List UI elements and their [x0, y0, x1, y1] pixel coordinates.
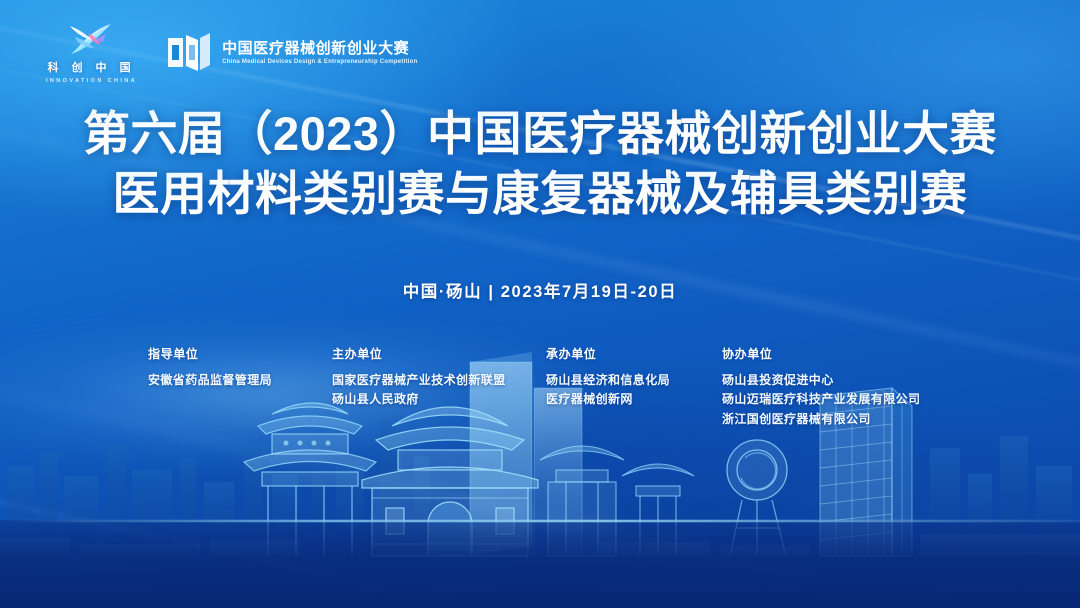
cmdc-title-cn: 中国医疗器械创新创业大赛 — [222, 41, 417, 57]
pavilion — [540, 446, 694, 556]
distant-buildings — [8, 420, 1072, 556]
innovation-china-en: INNOVATION CHINA — [46, 78, 137, 84]
title-line-2: 医用材料类别赛与康复器械及辅具类别赛 — [0, 164, 1080, 224]
sponsor-item: 国家医疗器械产业技术创新联盟 — [332, 371, 546, 390]
sponsor-column-guidance: 指导单位 安徽省药品监督管理局 — [148, 345, 332, 429]
light-streaks-decoration — [0, 0, 1080, 608]
sponsor-item: 砀山县投资促进中心 — [722, 371, 920, 390]
innovation-china-cn: 科 创 中 国 — [47, 59, 135, 75]
sponsor-heading: 主办单位 — [332, 345, 546, 362]
foreground-city-band — [0, 534, 1080, 556]
sponsor-item: 砀山迈瑞医疗科技产业发展有限公司 — [722, 390, 920, 409]
cmdc-title-en: China Medical Devices Design & Entrepren… — [222, 59, 417, 65]
sponsor-heading: 承办单位 — [546, 345, 722, 362]
sponsor-item: 砀山县人民政府 — [332, 390, 546, 409]
sponsor-item: 浙江国创医疗器械有限公司 — [722, 410, 920, 429]
horizon-glow-line — [0, 520, 1080, 522]
main-title-block: 第六届（2023）中国医疗器械创新创业大赛 医用材料类别赛与康复器械及辅具类别赛 — [0, 104, 1080, 223]
event-location-date: 中国·砀山 | 2023年7月19日-20日 — [0, 278, 1080, 302]
sponsor-heading: 协办单位 — [722, 345, 920, 362]
ground-plane — [0, 520, 1080, 608]
sponsor-column-host: 主办单位 国家医疗器械产业技术创新联盟 砀山县人民政府 — [332, 345, 546, 429]
phoenix-bird-icon — [63, 22, 121, 56]
open-book-door-icon — [167, 32, 211, 74]
sponsor-heading: 指导单位 — [148, 345, 332, 362]
title-line-1: 第六届（2023）中国医疗器械创新创业大赛 — [0, 104, 1080, 164]
round-sculpture — [727, 440, 787, 556]
sponsor-columns: 指导单位 安徽省药品监督管理局 主办单位 国家医疗器械产业技术创新联盟 砀山县人… — [148, 345, 990, 429]
logo-bar: 科 创 中 国 INNOVATION CHINA 中国医疗器械创新创业大赛 Ch… — [46, 22, 418, 84]
sponsor-item: 安徽省药品监督管理局 — [148, 371, 332, 390]
sponsor-column-organizer: 承办单位 砀山县经济和信息化局 医疗器械创新网 — [546, 345, 722, 429]
sponsor-column-coorganizer: 协办单位 砀山县投资促进中心 砀山迈瑞医疗科技产业发展有限公司 浙江国创医疗器械… — [722, 345, 920, 429]
sponsor-item: 医疗器械创新网 — [546, 390, 722, 409]
sponsor-item: 砀山县经济和信息化局 — [546, 371, 722, 390]
poster-canvas: 科 创 中 国 INNOVATION CHINA 中国医疗器械创新创业大赛 Ch… — [0, 0, 1080, 608]
logo-cmdc[interactable]: 中国医疗器械创新创业大赛 China Medical Devices Desig… — [167, 32, 417, 74]
logo-innovation-china[interactable]: 科 创 中 国 INNOVATION CHINA — [46, 22, 137, 84]
city-gate-tower — [362, 407, 538, 556]
